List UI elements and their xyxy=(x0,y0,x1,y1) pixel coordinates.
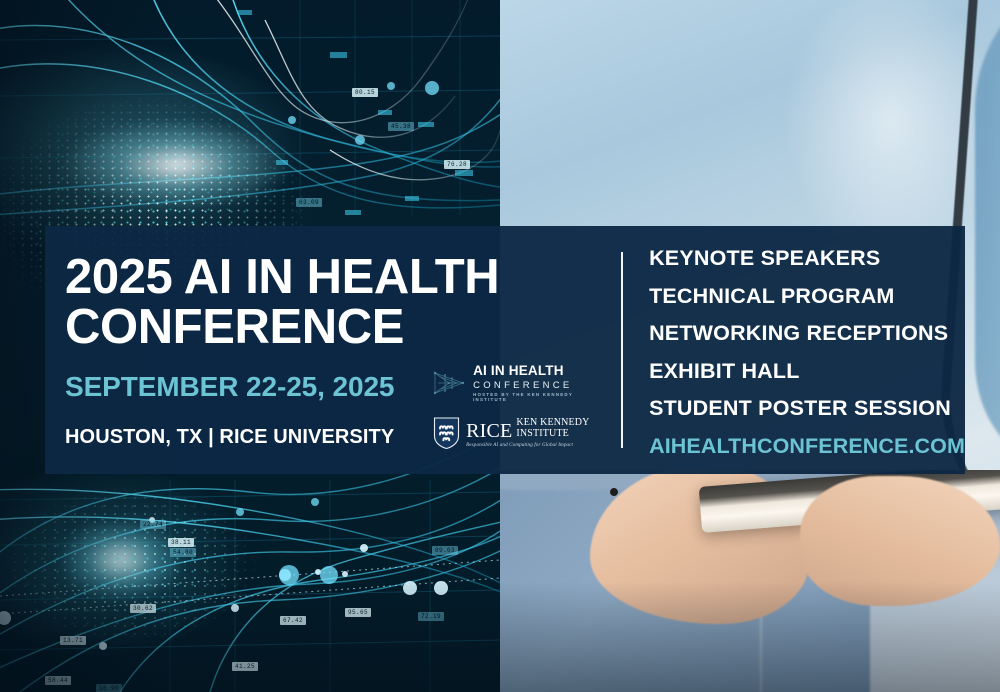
conference-logo-line-1: AI IN HEALTH xyxy=(473,364,603,378)
conference-logo: AI IN HEALTH CONFERENCE HOSTED BY THE KE… xyxy=(433,362,603,404)
data-label: 89.03 xyxy=(432,546,458,555)
rice-tagline: Responsible AI and Computing for Global … xyxy=(466,443,589,448)
data-label: 95.65 xyxy=(345,608,371,617)
data-label: 41.25 xyxy=(232,662,258,671)
rice-shield-icon xyxy=(433,417,460,449)
content-panel: 2025 AI IN HEALTH CONFERENCE SEPTEMBER 2… xyxy=(45,226,965,474)
feature-item: TECHNICAL PROGRAM xyxy=(649,286,965,308)
data-label: 38.11 xyxy=(168,538,194,547)
data-label: 76.28 xyxy=(444,160,470,169)
panel-right-column: KEYNOTE SPEAKERS TECHNICAL PROGRAM NETWO… xyxy=(623,226,965,474)
conference-website-link[interactable]: AIHEALTHCONFERENCE.COM xyxy=(649,436,965,458)
rice-institute-line-1: KEN KENNEDY xyxy=(516,418,589,428)
data-label: 30.62 xyxy=(130,604,156,613)
data-label: 80.15 xyxy=(352,88,378,97)
rice-institute-line-2: INSTITUTE xyxy=(516,429,589,439)
feature-item: STUDENT POSTER SESSION xyxy=(649,398,965,420)
hand-right xyxy=(800,476,1000,606)
conference-logo-line-3: HOSTED BY THE KEN KENNEDY INSTITUTE xyxy=(473,393,603,402)
feature-item: KEYNOTE SPEAKERS xyxy=(649,248,965,270)
data-label: 63.09 xyxy=(296,198,322,207)
logo-group: AI IN HEALTH CONFERENCE HOSTED BY THE KE… xyxy=(433,362,603,452)
rice-logo: RICE KEN KENNEDY INSTITUTE Responsible A… xyxy=(433,414,603,452)
feature-item: NETWORKING RECEPTIONS xyxy=(649,323,965,345)
conference-logo-line-2: CONFERENCE xyxy=(473,381,603,391)
data-label: 13.71 xyxy=(60,636,86,645)
feature-item: EXHIBIT HALL xyxy=(649,361,965,383)
data-label: 16.90 xyxy=(96,684,122,692)
panel-left-column: 2025 AI IN HEALTH CONFERENCE SEPTEMBER 2… xyxy=(45,226,621,474)
data-label: 22.74 xyxy=(140,520,166,529)
rice-wordmark: RICE xyxy=(466,422,512,440)
poster-canvas: 80.15 45.38 76.28 63.09 38.11 22.74 95.6… xyxy=(0,0,1000,692)
page-title: 2025 AI IN HEALTH CONFERENCE xyxy=(65,252,621,353)
hands-tablet-photo xyxy=(470,470,1000,692)
rice-logo-wordmark: RICE KEN KENNEDY INSTITUTE Responsible A… xyxy=(466,418,589,448)
rice-logo-top-row: RICE KEN KENNEDY INSTITUTE xyxy=(466,418,589,440)
rice-institute-lines: KEN KENNEDY INSTITUTE xyxy=(516,418,589,440)
data-label: 72.19 xyxy=(418,612,444,621)
particle-cloud-lower xyxy=(0,470,360,692)
network-triangle-icon xyxy=(433,367,467,399)
conference-logo-wordmark: AI IN HEALTH CONFERENCE HOSTED BY THE KE… xyxy=(473,364,603,402)
data-label: 67.42 xyxy=(280,616,306,625)
data-label: 45.38 xyxy=(388,122,414,131)
data-label: 54.80 xyxy=(170,548,196,557)
data-label: 58.44 xyxy=(45,676,71,685)
